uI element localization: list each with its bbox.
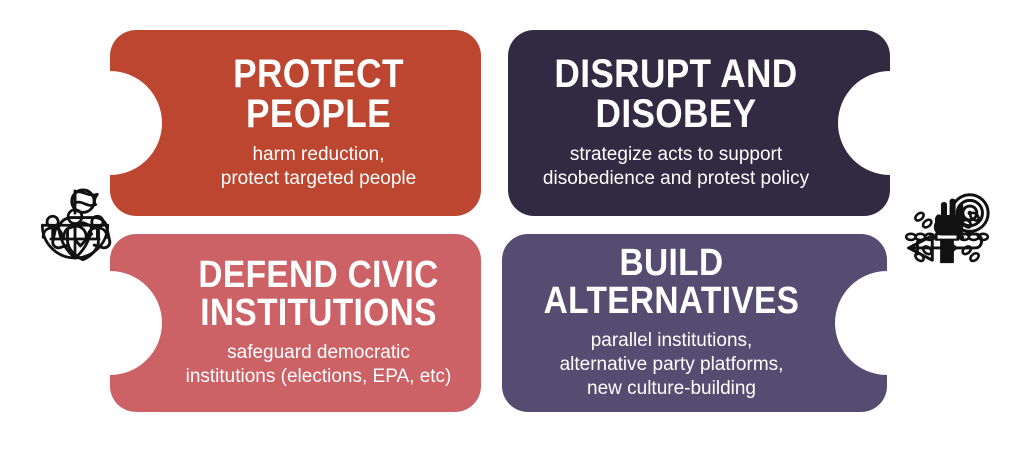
card-disrupt-disobey[interactable]: DISRUPT AND DISOBEY strategize acts to s… (508, 30, 890, 216)
card-body: PROTECT PEOPLE harm reduction, protect t… (110, 55, 481, 190)
card-heading: DISRUPT AND DISOBEY (539, 55, 814, 133)
card-defend-civic[interactable]: DEFEND CIVIC INSTITUTIONS safeguard demo… (110, 234, 481, 412)
card-subtext: parallel institutions, alternative party… (514, 329, 829, 401)
card-subtext: harm reduction, protect targeted people (168, 143, 469, 191)
card-subtext: strategize acts to support disobedience … (520, 143, 832, 191)
card-protect-people[interactable]: PROTECT PEOPLE harm reduction, protect t… (110, 30, 481, 216)
card-heading: DEFEND CIVIC INSTITUTIONS (186, 257, 451, 331)
card-body: BUILD ALTERNATIVES parallel institutions… (502, 245, 887, 400)
globe-people-flag-icon (32, 184, 118, 270)
card-subtext: safeguard democratic institutions (elect… (168, 341, 469, 389)
card-heading: PROTECT PEOPLE (186, 55, 451, 133)
card-build-alternatives[interactable]: BUILD ALTERNATIVES parallel institutions… (502, 234, 887, 412)
card-heading: BUILD ALTERNATIVES (533, 245, 810, 319)
card-body: DEFEND CIVIC INSTITUTIONS safeguard demo… (110, 257, 481, 388)
paper-plane-path-target-icon (900, 179, 996, 275)
strategy-cards-board: PROTECT PEOPLE harm reduction, protect t… (0, 0, 1024, 454)
card-body: DISRUPT AND DISOBEY strategize acts to s… (508, 55, 890, 190)
